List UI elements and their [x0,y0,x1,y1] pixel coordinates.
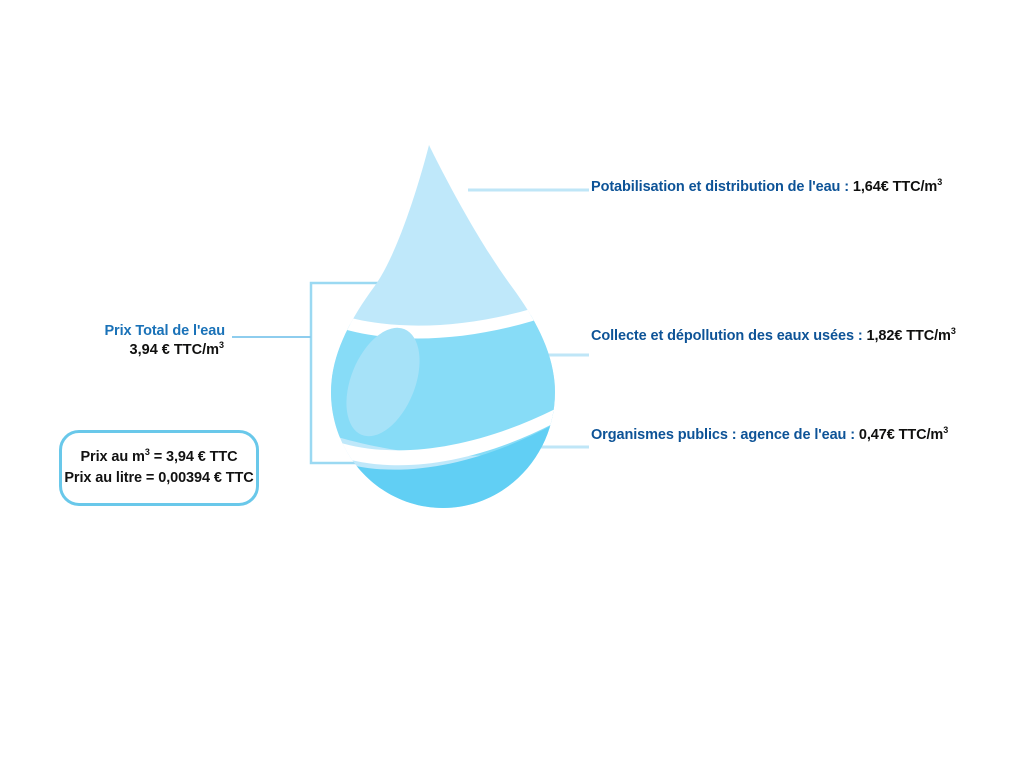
water-price-infographic: Potabilisation et distribution de l'eau … [0,0,1024,768]
superscript-cubic: 3 [219,340,224,350]
water-droplet [313,135,578,525]
summary-line-per-litre: Prix au litre = 0,00394 € TTC [64,468,253,489]
callout-label-organismes: Organismes publics : agence de l'eau : [591,427,859,443]
callout-value-organismes: 0,47€ TTC/m3 [859,427,948,443]
price-summary-box: Prix au m3 = 3,94 € TTC Prix au litre = … [59,430,259,506]
callout-label-collecte: Collecte et dépollution des eaux usées : [591,328,867,344]
callout-label-potabilisation: Potabilisation et distribution de l'eau … [591,179,853,195]
superscript-cubic: 3 [951,326,956,336]
total-price-label: Prix Total de l'eau [60,322,225,341]
summary-line-per-cubic-meter: Prix au m3 = 3,94 € TTC [80,447,237,468]
callout-value-potabilisation: 1,64€ TTC/m3 [853,179,942,195]
total-price-block: Prix Total de l'eau 3,94 € TTC/m3 [60,322,225,359]
callout-collecte: Collecte et dépollution des eaux usées :… [591,329,956,344]
callout-potabilisation: Potabilisation et distribution de l'eau … [591,180,942,195]
callout-organismes: Organismes publics : agence de l'eau : 0… [591,428,948,443]
superscript-cubic: 3 [937,177,942,187]
callout-value-collecte: 1,82€ TTC/m3 [867,328,956,344]
infographic-artwork [0,0,1024,768]
superscript-cubic: 3 [943,425,948,435]
total-price-value: 3,94 € TTC/m3 [60,341,225,360]
